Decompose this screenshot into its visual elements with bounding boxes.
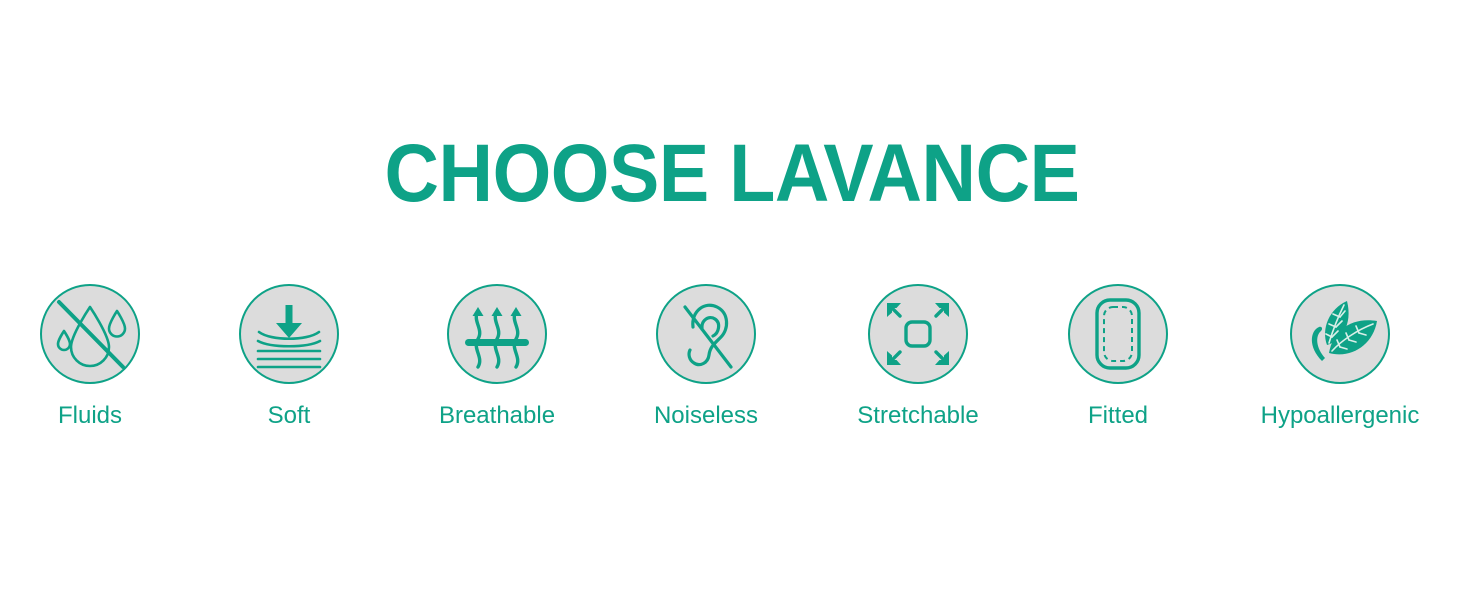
feature-label-breathable: Breathable [439, 403, 555, 429]
feature-label-fluids: Fluids [58, 403, 122, 429]
feature-item-hypoallergenic: Hypoallergenic [1240, 283, 1440, 429]
feature-item-noiseless: Noiseless [639, 283, 773, 429]
feature-item-fitted: Fitted [1063, 283, 1173, 429]
feature-label-hypoallergenic: Hypoallergenic [1261, 403, 1420, 429]
noiseless-ear-crossed-icon [655, 283, 757, 385]
feature-item-breathable: Breathable [422, 283, 572, 429]
hypoallergenic-leaves-icon [1289, 283, 1391, 385]
page-title: CHOOSE LAVANCE [59, 133, 1406, 215]
fitted-sheet-icon [1067, 283, 1169, 385]
feature-list: Fluids Soft [24, 283, 1440, 429]
feature-label-stretchable: Stretchable [857, 403, 978, 429]
feature-item-fluids: Fluids [24, 283, 156, 429]
stretchable-arrows-icon [867, 283, 969, 385]
feature-label-fitted: Fitted [1088, 403, 1148, 429]
feature-item-stretchable: Stretchable [840, 283, 996, 429]
feature-item-soft: Soft [223, 283, 355, 429]
fluids-repellent-icon [39, 283, 141, 385]
breathable-airflow-icon [446, 283, 548, 385]
feature-label-soft: Soft [268, 403, 311, 429]
feature-label-noiseless: Noiseless [654, 403, 758, 429]
choose-lavance-banner: CHOOSE LAVANCE Fluids [0, 0, 1464, 600]
soft-cushion-arrow-icon [238, 283, 340, 385]
